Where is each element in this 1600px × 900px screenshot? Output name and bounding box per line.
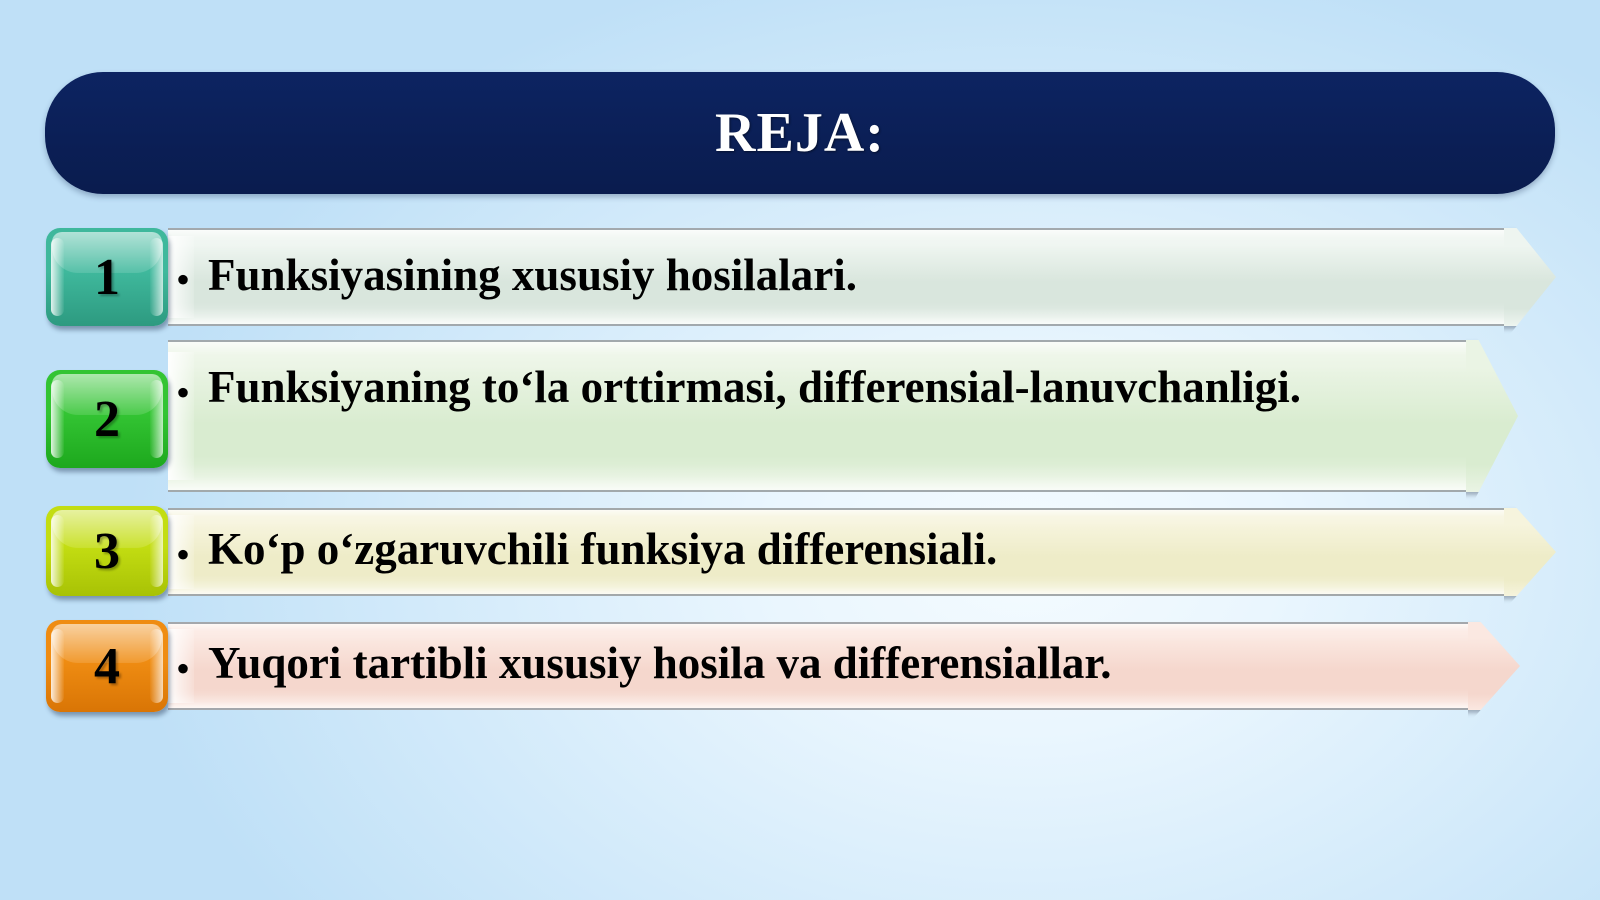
list-item-label: Ko‘p o‘zgaruvchili funksiya differensial…: [208, 524, 1508, 574]
list-bullet: •: [176, 535, 190, 575]
step-number: 4: [94, 637, 120, 696]
plan-item-row: • Yuqori tartibli xususiy hosila va diff…: [0, 622, 1600, 710]
list-item-label: Funksiyaning to‘la orttirmasi, differens…: [208, 362, 1460, 412]
list-item-label: Yuqori tartibli xususiy hosila va differ…: [208, 638, 1508, 688]
list-bullet: •: [176, 373, 190, 413]
step-number: 3: [94, 522, 120, 581]
plan-item-row: • Funksiyasining xususiy hosilalari. 1: [0, 228, 1600, 326]
slide-canvas: REJA: • Funksiyasining xususiy hosilalar…: [0, 0, 1600, 900]
list-bullet: •: [176, 260, 190, 300]
step-number-badge: 3: [46, 506, 168, 596]
slide-title-bar: REJA:: [45, 72, 1555, 194]
step-number: 1: [94, 248, 120, 307]
page-title: REJA:: [715, 101, 885, 165]
step-number-badge: 4: [46, 620, 168, 712]
plan-item-row: • Funksiyaning to‘la orttirmasi, differe…: [0, 340, 1600, 492]
step-number-badge: 1: [46, 228, 168, 326]
step-number-badge: 2: [46, 370, 168, 468]
step-number: 2: [94, 390, 120, 449]
plan-item-row: • Ko‘p o‘zgaruvchili funksiya differensi…: [0, 508, 1600, 596]
list-bullet: •: [176, 649, 190, 689]
list-item-label: Funksiyasining xususiy hosilalari.: [208, 250, 1508, 300]
